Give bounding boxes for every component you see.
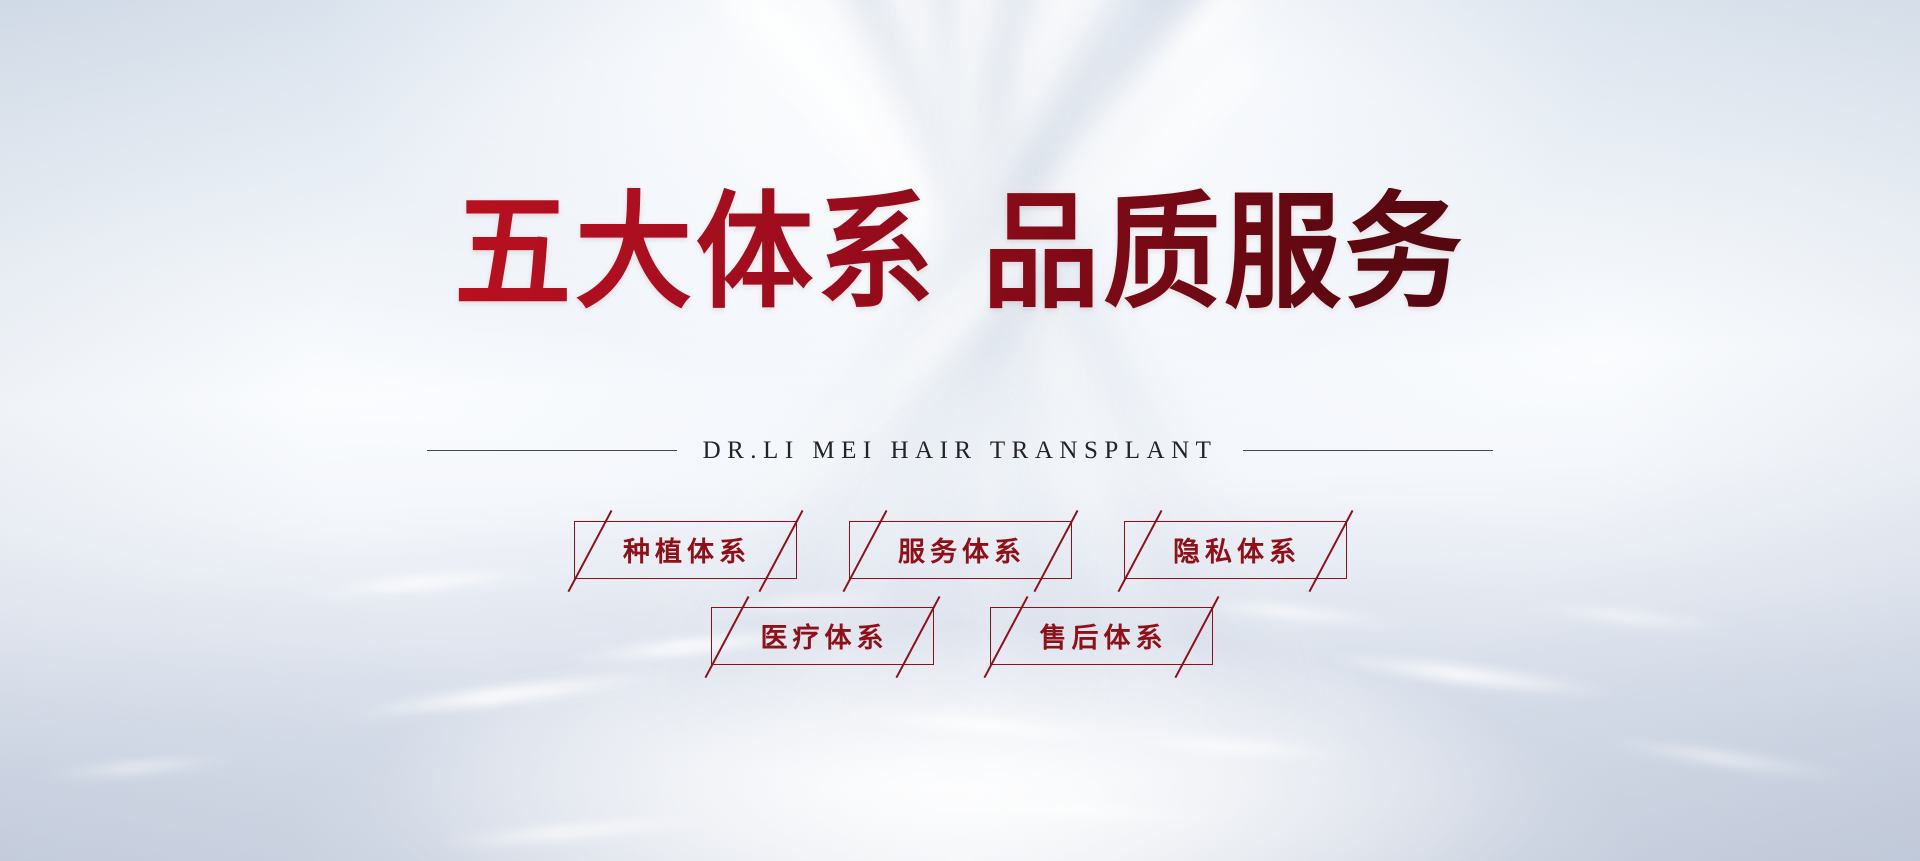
subtitle-rule-left xyxy=(427,450,677,451)
badge-aftersales-system[interactable]: 售后体系 xyxy=(990,607,1213,665)
badge-group: 种植体系 服务体系 隐私体系 医疗体系 售后体系 xyxy=(574,521,1347,665)
subtitle-rule-right xyxy=(1243,450,1493,451)
page-title: 五大体系 品质服务 xyxy=(454,188,1466,317)
badge-medical-system[interactable]: 医疗体系 xyxy=(711,607,934,665)
banner-stage: 五大体系 品质服务 DR.LI MEI HAIR TRANSPLANT 种植体系… xyxy=(0,0,1920,861)
badge-row-1: 种植体系 服务体系 隐私体系 xyxy=(574,521,1347,579)
badge-privacy-system[interactable]: 隐私体系 xyxy=(1124,521,1347,579)
subtitle-text: DR.LI MEI HAIR TRANSPLANT xyxy=(703,437,1218,465)
badge-label: 隐私体系 xyxy=(1173,530,1301,569)
subtitle-row: DR.LI MEI HAIR TRANSPLANT xyxy=(427,437,1494,465)
badge-row-2: 医疗体系 售后体系 xyxy=(711,607,1213,665)
badge-label: 种植体系 xyxy=(623,530,751,569)
badge-planting-system[interactable]: 种植体系 xyxy=(574,521,797,579)
badge-label: 服务体系 xyxy=(898,530,1026,569)
badge-label: 医疗体系 xyxy=(761,616,889,655)
banner-content: 五大体系 品质服务 DR.LI MEI HAIR TRANSPLANT 种植体系… xyxy=(0,0,1920,861)
badge-label: 售后体系 xyxy=(1040,616,1168,655)
badge-service-system[interactable]: 服务体系 xyxy=(849,521,1072,579)
